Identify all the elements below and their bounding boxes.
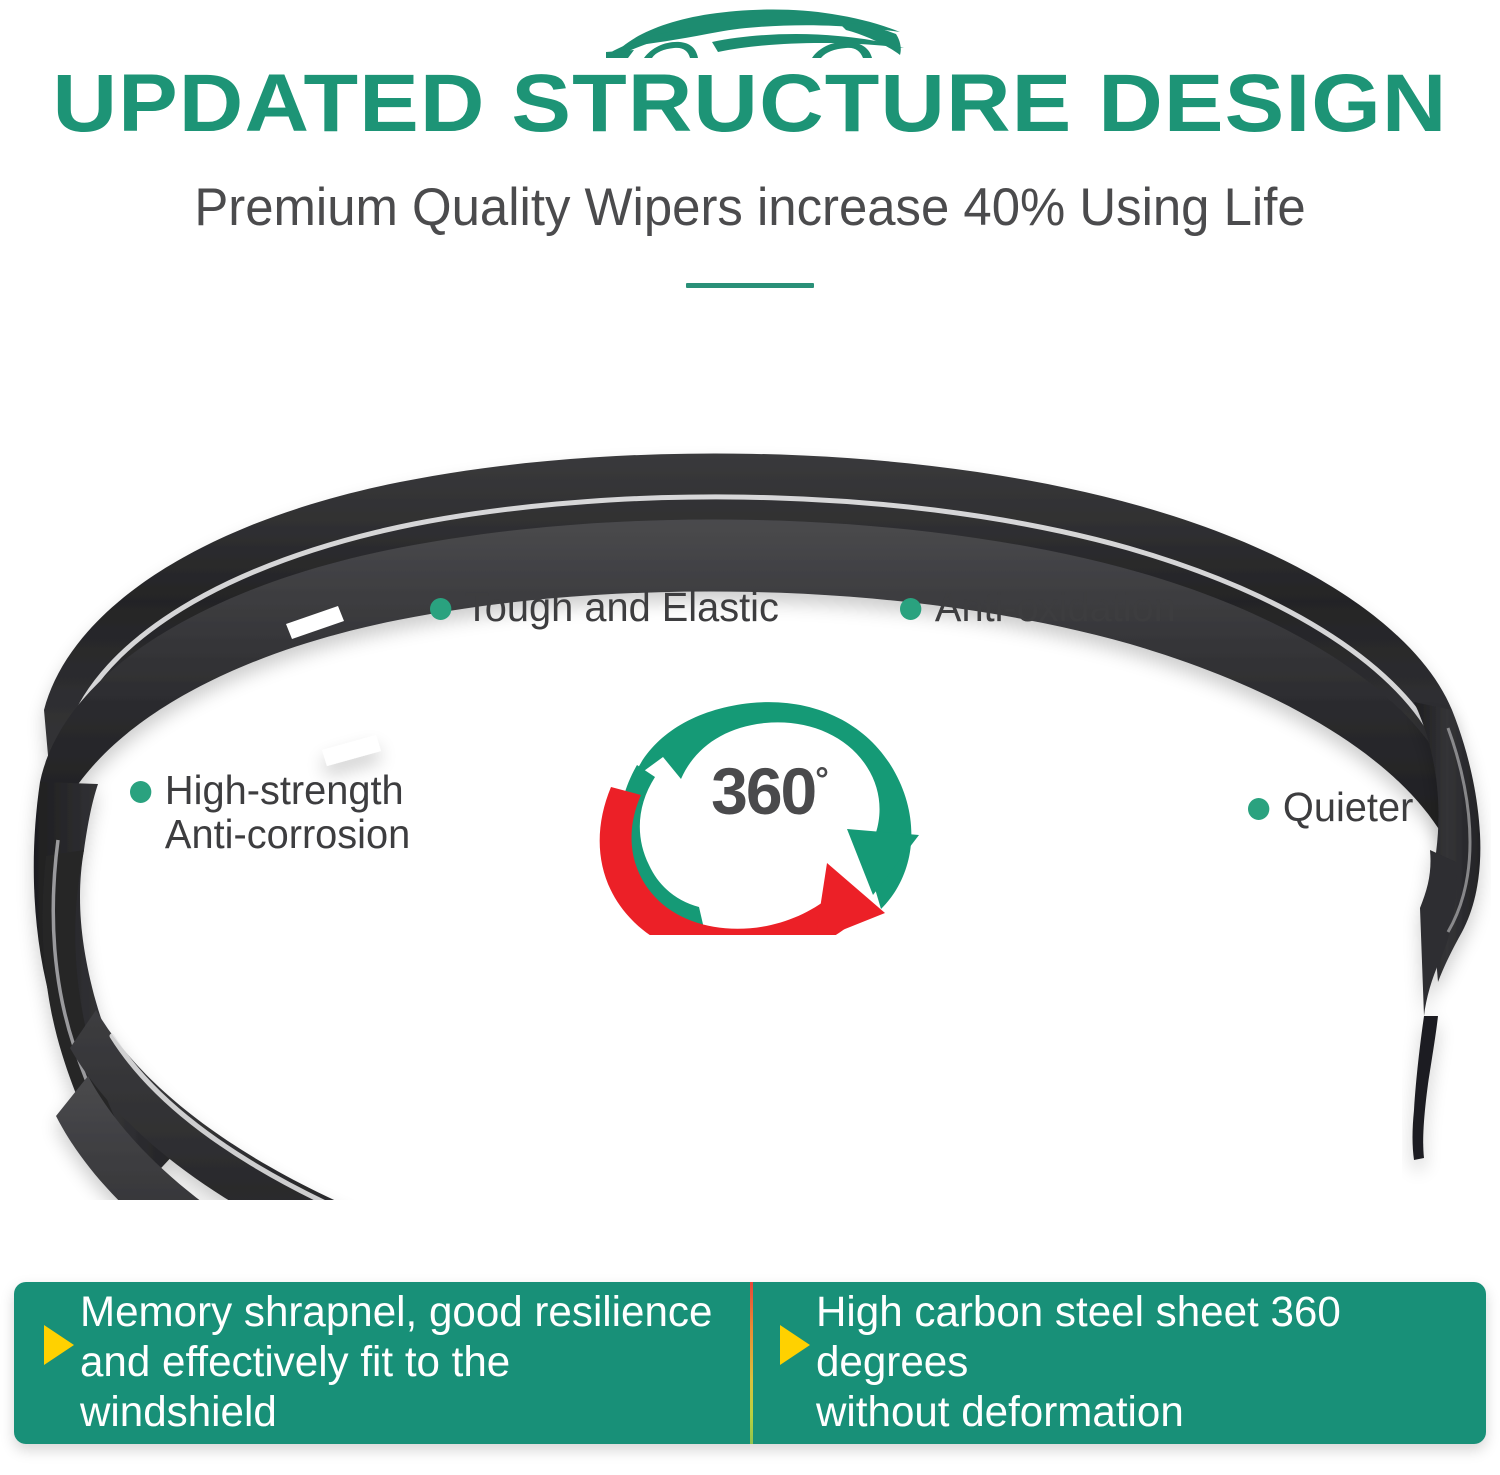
banner-high-carbon-steel: High carbon steel sheet 360 degrees with…: [750, 1282, 1486, 1444]
bullet-dot-icon: [1248, 798, 1269, 820]
callout-label: Tough and Elastic: [465, 585, 779, 629]
rotation-360-badge: 360°: [575, 695, 965, 935]
page-title: UPDATED STRUCTURE DESIGN: [0, 62, 1500, 146]
callout-label: Quieter: [1283, 785, 1413, 829]
bullet-dot-icon: [900, 598, 921, 620]
callout-label: Anti-oxidation: [935, 585, 1176, 629]
banner-memory-shrapnel: Memory shrapnel, good resilience and eff…: [14, 1282, 750, 1444]
triangle-bullet-icon: [780, 1325, 810, 1365]
product-infographic-page: UPDATED STRUCTURE DESIGN Premium Quality…: [0, 0, 1500, 1475]
car-silhouette-icon: [600, 2, 920, 64]
badge-360-number: 360: [711, 754, 815, 828]
callout-tough-and-elastic: Tough and Elastic: [430, 585, 779, 629]
callout-quieter: Quieter: [1248, 785, 1413, 829]
title-underline-divider: [686, 283, 814, 288]
feature-banner-row: Memory shrapnel, good resilience and eff…: [14, 1282, 1486, 1444]
page-subtitle: Premium Quality Wipers increase 40% Usin…: [30, 180, 1470, 236]
callout-anti-oxidation: Anti-oxidation: [900, 585, 1176, 629]
banner-text: Memory shrapnel, good resilience and eff…: [80, 1288, 715, 1438]
badge-360-label: 360°: [575, 753, 965, 829]
banner-text: High carbon steel sheet 360 degrees with…: [816, 1288, 1451, 1438]
callout-label: High-strength Anti-corrosion: [165, 768, 410, 857]
bullet-dot-icon: [130, 781, 151, 803]
degree-symbol: °: [815, 761, 829, 799]
bullet-dot-icon: [430, 598, 451, 620]
callout-high-strength-anti-corrosion: High-strength Anti-corrosion: [130, 768, 410, 857]
triangle-bullet-icon: [44, 1325, 74, 1365]
